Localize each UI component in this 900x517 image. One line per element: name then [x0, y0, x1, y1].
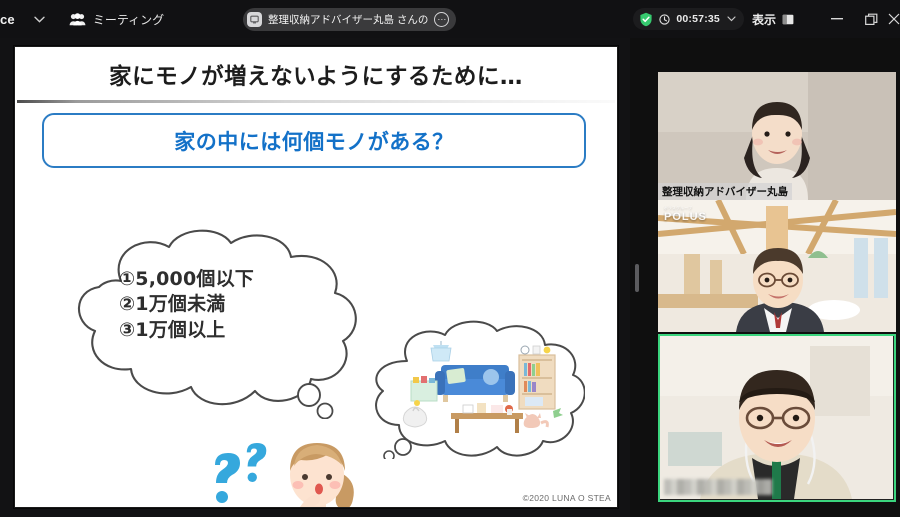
participant-name-bar: 整理収納アドバイザー丸島: [658, 183, 792, 200]
titlebar-right-group: 00:57:35 表示: [633, 0, 900, 38]
thinking-woman-illustration: [265, 429, 370, 508]
titlebar-left-group: ce ミーティング: [0, 6, 164, 32]
sharing-status-chip[interactable]: 整理収納アドバイザー丸島 さんの ···: [243, 8, 456, 31]
slide-title: 家にモノが増えないようにするために…: [15, 47, 617, 91]
toy-box-icon: [411, 376, 437, 406]
question-box-text: 家の中には何個モノがある？: [174, 126, 454, 156]
participant-video-panel: 整理収納アドバイザー丸島: [644, 38, 900, 517]
title-divider: [17, 100, 615, 103]
thought-bubble-options: ①5,000個以下 ②1万個未満 ③1万個以上: [59, 229, 379, 419]
resize-grip-icon: [635, 264, 639, 292]
polus-watermark: ポラスグループ POLUS: [664, 206, 707, 223]
meeting-window: ce ミーティング: [0, 0, 900, 517]
more-options-icon[interactable]: ···: [434, 12, 449, 27]
question-box: 家の中には何個モノがある？: [42, 113, 586, 168]
layout-icon: [782, 14, 794, 25]
thought-bubble-room: [367, 319, 585, 459]
list-item: ②1万個未満: [119, 292, 359, 317]
list-item: ③1万個以上: [119, 318, 359, 343]
participant-name-bar-redacted: [664, 479, 772, 495]
shield-check-icon: [639, 12, 653, 27]
view-button[interactable]: 表示: [752, 11, 794, 28]
thought-bubble-room-icon: [367, 319, 585, 459]
meeting-menu[interactable]: ミーティング: [69, 11, 164, 28]
options-list: ①5,000個以下 ②1万個未満 ③1万個以上: [119, 267, 359, 343]
bookshelf-icon: [519, 346, 555, 409]
minimize-button[interactable]: [820, 0, 854, 38]
restore-window-button[interactable]: [854, 0, 888, 38]
timer-chevron-down-icon[interactable]: [727, 16, 736, 22]
sharing-chip-label: 整理収納アドバイザー丸島 さんの: [268, 12, 428, 27]
participant-tile-2[interactable]: ポラスグループ POLUS: [658, 200, 896, 332]
secure-timer-group[interactable]: 00:57:35: [633, 8, 744, 30]
window-titlebar: ce ミーティング: [0, 0, 900, 38]
participant-tile-1[interactable]: 整理収納アドバイザー丸島: [658, 72, 896, 200]
shared-screen-area[interactable]: 家にモノが増えないようにするために… 家の中には何個モノがある？ ①5,000個…: [0, 38, 630, 517]
people-icon: [69, 13, 86, 26]
meeting-timer: 00:57:35: [676, 13, 720, 25]
meeting-label: ミーティング: [93, 11, 164, 28]
screen-share-icon: [247, 12, 262, 27]
close-button[interactable]: [888, 0, 900, 38]
participant-name-label: 整理収納アドバイザー丸島: [662, 184, 788, 199]
app-name-label: ce: [0, 12, 15, 27]
panel-resize-handle[interactable]: [630, 38, 644, 517]
chevron-down-icon[interactable]: [27, 6, 53, 32]
clock-icon: [659, 14, 670, 25]
presentation-slide: 家にモノが増えないようにするために… 家の中には何個モノがある？ ①5,000個…: [14, 46, 618, 508]
participant-tile-3[interactable]: [658, 334, 896, 502]
list-item: ①5,000個以下: [119, 267, 359, 292]
view-label: 表示: [752, 11, 776, 28]
copyright-text: ©2020 LUNA O STEA: [523, 493, 611, 503]
polus-watermark-text: POLUS: [664, 211, 707, 223]
